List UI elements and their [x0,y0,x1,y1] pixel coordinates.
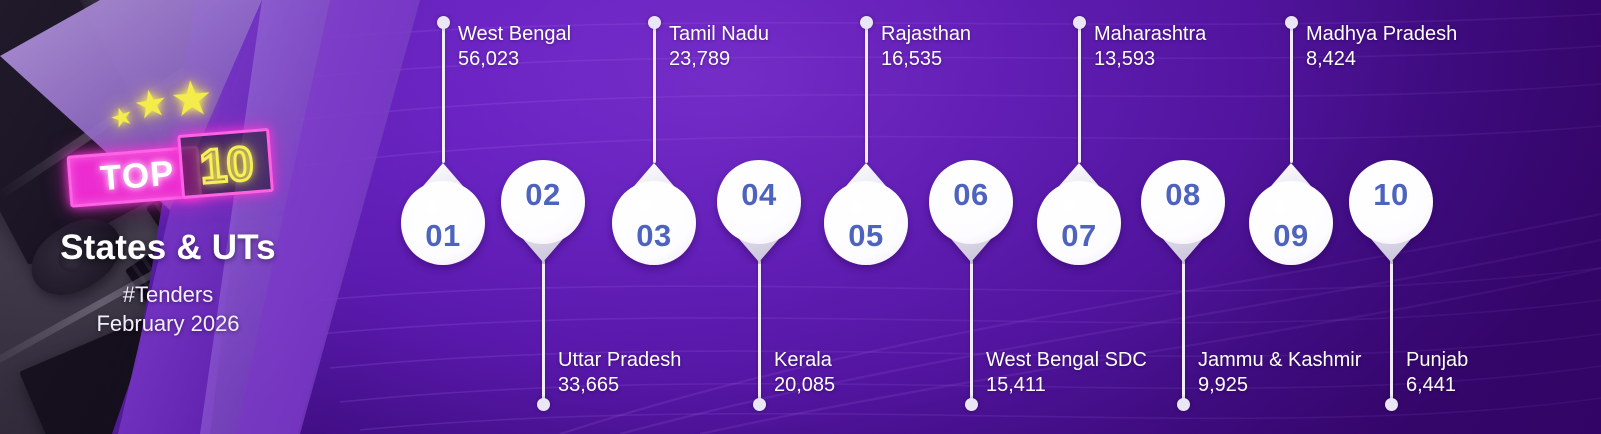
tender-count: 8,424 [1306,47,1457,72]
connector-dot [1073,16,1086,29]
state-name: Kerala [774,348,835,373]
connector-dot [860,16,873,29]
state-label-10: Punjab 6,441 [1406,348,1468,398]
rank-badge-03[interactable]: 03 [606,161,702,281]
tender-count: 33,665 [558,373,681,398]
ranking-timeline: 01 West Bengal 56,023 [0,0,1601,434]
connector-line [758,260,761,400]
rank-number: 10 [1343,177,1439,213]
connector-dot [1385,398,1398,411]
state-label-09: Madhya Pradesh 8,424 [1306,22,1457,72]
rank-number: 05 [818,218,914,254]
connector-line [1390,260,1393,400]
rank-badge-09[interactable]: 09 [1243,161,1339,281]
rank-number: 02 [495,177,591,213]
connector-line [442,22,445,163]
connector-line [1078,22,1081,163]
state-name: Tamil Nadu [669,22,769,47]
state-name: West Bengal [458,22,571,47]
rank-badge-08[interactable]: 08 [1135,144,1231,264]
tender-count: 56,023 [458,47,571,72]
state-label-02: Uttar Pradesh 33,665 [558,348,681,398]
state-label-08: Jammu & Kashmir 9,925 [1198,348,1361,398]
rank-number: 09 [1243,218,1339,254]
connector-line [970,260,973,400]
connector-dot [753,398,766,411]
state-label-06: West Bengal SDC 15,411 [986,348,1147,398]
rank-number: 04 [711,177,807,213]
connector-line [1182,260,1185,400]
connector-line [1290,22,1293,163]
state-label-05: Rajasthan 16,535 [881,22,971,72]
state-label-03: Tamil Nadu 23,789 [669,22,769,72]
connector-line [653,22,656,163]
state-label-07: Maharashtra 13,593 [1094,22,1206,72]
connector-line [865,22,868,163]
connector-dot [965,398,978,411]
rank-badge-02[interactable]: 02 [495,144,591,264]
rank-badge-10[interactable]: 10 [1343,144,1439,264]
rank-badge-07[interactable]: 07 [1031,161,1127,281]
state-name: Jammu & Kashmir [1198,348,1361,373]
rank-badge-01[interactable]: 01 [395,161,491,281]
tender-count: 20,085 [774,373,835,398]
tender-count: 9,925 [1198,373,1361,398]
connector-dot [537,398,550,411]
state-name: Madhya Pradesh [1306,22,1457,47]
tender-count: 16,535 [881,47,971,72]
state-name: Maharashtra [1094,22,1206,47]
rank-number: 06 [923,177,1019,213]
tender-count: 6,441 [1406,373,1468,398]
state-label-04: Kerala 20,085 [774,348,835,398]
connector-dot [437,16,450,29]
state-name: Rajasthan [881,22,971,47]
rank-badge-06[interactable]: 06 [923,144,1019,264]
connector-line [542,260,545,400]
tender-count: 13,593 [1094,47,1206,72]
rank-number: 01 [395,218,491,254]
rank-number: 03 [606,218,702,254]
connector-dot [1177,398,1190,411]
state-label-01: West Bengal 56,023 [458,22,571,72]
rank-badge-04[interactable]: 04 [711,144,807,264]
infographic-canvas: ★ ★ ★ TOP 10 States & UTs #Tenders Febru… [0,0,1601,434]
rank-badge-05[interactable]: 05 [818,161,914,281]
connector-dot [1285,16,1298,29]
rank-number: 08 [1135,177,1231,213]
state-name: West Bengal SDC [986,348,1147,373]
rank-number: 07 [1031,218,1127,254]
connector-dot [648,16,661,29]
tender-count: 15,411 [986,373,1147,398]
state-name: Punjab [1406,348,1468,373]
tender-count: 23,789 [669,47,769,72]
state-name: Uttar Pradesh [558,348,681,373]
